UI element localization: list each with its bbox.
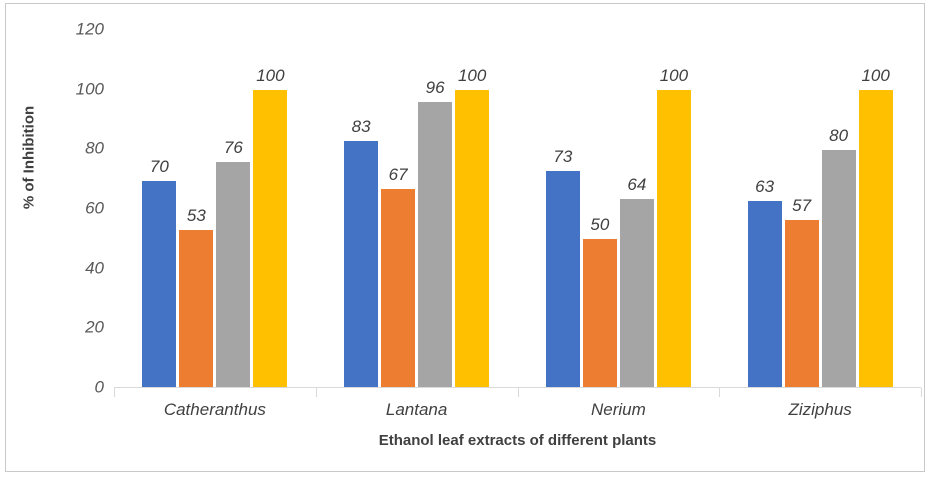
x-tick-mark	[316, 388, 317, 397]
x-category-label-nerium: Nerium	[518, 400, 720, 420]
bar-rect	[142, 181, 176, 387]
bar-group-catheranthus: 705376100	[114, 29, 316, 387]
bar-data-label: 64	[627, 176, 646, 193]
x-tick-mark	[719, 388, 720, 397]
bar-data-label: 53	[187, 207, 206, 224]
x-axis-title: Ethanol leaf extracts of different plant…	[114, 432, 921, 449]
x-category-label-ziziphus: Ziziphus	[719, 400, 921, 420]
bar-group-lantana: 836796100	[316, 29, 518, 387]
bar-data-label: 96	[426, 79, 445, 96]
bar-lantana-series-4[interactable]: 100	[455, 29, 489, 387]
bar-catheranthus-series-4[interactable]: 100	[253, 29, 287, 387]
bar-nerium-series-2[interactable]: 50	[583, 29, 617, 387]
bar-catheranthus-series-3[interactable]: 76	[216, 29, 250, 387]
bar-data-label: 70	[150, 158, 169, 175]
bar-lantana-series-2[interactable]: 67	[381, 29, 415, 387]
bar-rect	[583, 239, 617, 387]
bar-group-nerium: 735064100	[518, 29, 720, 387]
bar-lantana-series-1[interactable]: 83	[344, 29, 378, 387]
bar-rect	[546, 171, 580, 387]
bar-group-ziziphus: 635780100	[719, 29, 921, 387]
bar-data-label: 100	[861, 67, 889, 84]
bar-data-label: 80	[829, 127, 848, 144]
y-tick-label-80: 80	[58, 140, 104, 157]
bar-ziziphus-series-4[interactable]: 100	[859, 29, 893, 387]
chart-screenshot: 020406080100120 % of Inhibition 70537610…	[0, 0, 938, 480]
plot-area: 705376100836796100735064100635780100	[114, 29, 921, 387]
bar-catheranthus-series-2[interactable]: 53	[179, 29, 213, 387]
x-category-label-catheranthus: Catheranthus	[114, 400, 316, 420]
x-tick-mark	[921, 388, 922, 397]
bar-rect	[822, 150, 856, 387]
bar-rect	[344, 141, 378, 387]
bar-rect	[179, 230, 213, 387]
bar-rect	[455, 90, 489, 387]
bar-rect	[253, 90, 287, 387]
bar-rect	[785, 220, 819, 387]
bar-rect	[216, 162, 250, 387]
bar-rect	[748, 201, 782, 387]
bar-data-label: 50	[590, 216, 609, 233]
bar-rect	[418, 102, 452, 387]
bar-data-label: 100	[458, 67, 486, 84]
bar-ziziphus-series-3[interactable]: 80	[822, 29, 856, 387]
bar-data-label: 100	[660, 67, 688, 84]
bar-data-label: 100	[256, 67, 284, 84]
y-tick-label-100: 100	[58, 80, 104, 97]
y-axis-title: % of Inhibition	[21, 73, 38, 243]
bar-data-label: 73	[553, 148, 572, 165]
chart-frame: 020406080100120 % of Inhibition 70537610…	[5, 3, 925, 472]
bar-nerium-series-4[interactable]: 100	[657, 29, 691, 387]
bar-rect	[620, 199, 654, 387]
y-tick-label-20: 20	[58, 319, 104, 336]
bar-ziziphus-series-1[interactable]: 63	[748, 29, 782, 387]
bar-nerium-series-3[interactable]: 64	[620, 29, 654, 387]
x-tick-mark	[518, 388, 519, 397]
y-tick-label-120: 120	[58, 21, 104, 38]
y-tick-label-60: 60	[58, 200, 104, 217]
bar-ziziphus-series-2[interactable]: 57	[785, 29, 819, 387]
bar-data-label: 63	[755, 178, 774, 195]
bar-nerium-series-1[interactable]: 73	[546, 29, 580, 387]
bar-rect	[859, 90, 893, 387]
y-tick-label-0: 0	[58, 379, 104, 396]
bar-rect	[657, 90, 691, 387]
bar-data-label: 57	[792, 197, 811, 214]
x-category-label-lantana: Lantana	[316, 400, 518, 420]
y-tick-label-40: 40	[58, 259, 104, 276]
y-axis-tick-labels: 020406080100120	[56, 4, 104, 480]
bar-data-label: 83	[352, 118, 371, 135]
bar-data-label: 76	[224, 139, 243, 156]
x-tick-mark	[114, 388, 115, 397]
bar-lantana-series-3[interactable]: 96	[418, 29, 452, 387]
bar-catheranthus-series-1[interactable]: 70	[142, 29, 176, 387]
bar-data-label: 67	[389, 166, 408, 183]
bar-rect	[381, 189, 415, 387]
